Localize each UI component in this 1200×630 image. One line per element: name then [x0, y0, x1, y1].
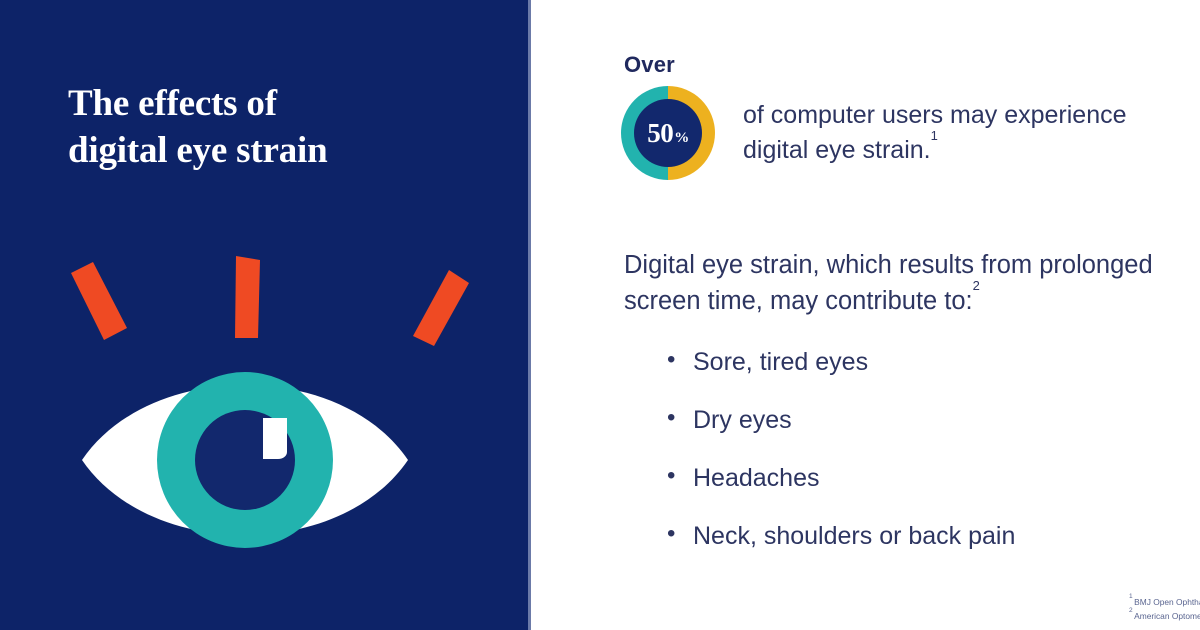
footnote-1: 1BMJ Open Ophthalmology, 2018, https://w… — [1129, 595, 1200, 609]
right-content-panel: Over 50% of computer users may experienc… — [531, 0, 1200, 630]
page-title-line-1: The effects of — [68, 80, 488, 127]
page-title-line-2: digital eye strain — [68, 127, 488, 174]
ray-right-icon — [413, 270, 469, 346]
ray-center-icon — [235, 256, 260, 338]
statistic-description: of computer users may experience digital… — [743, 98, 1143, 169]
donut-center: 50% — [634, 99, 702, 167]
list-item: Headaches — [667, 466, 1187, 491]
statistic-footnote-marker: 1 — [931, 128, 938, 143]
eye-illustration — [55, 248, 485, 558]
list-item: Neck, shoulders or back pain — [667, 524, 1187, 549]
lead-paragraph: Digital eye strain, which results from p… — [624, 248, 1164, 319]
donut-value: 50 — [647, 120, 673, 147]
donut-center-label: 50% — [647, 120, 689, 147]
footnote-1-text: BMJ Open Ophthalmology, 2018, https://ww… — [1134, 597, 1200, 607]
lead-paragraph-text: Digital eye strain, which results from p… — [624, 251, 1153, 315]
footnotes: 1BMJ Open Ophthalmology, 2018, https://w… — [1129, 595, 1200, 623]
infographic-slide: The effects of digital eye strain — [0, 0, 1200, 630]
footnote-2-marker: 2 — [1129, 607, 1133, 614]
symptom-label: Dry eyes — [693, 406, 792, 434]
ray-left-icon — [71, 262, 127, 340]
footnote-1-marker: 1 — [1129, 593, 1133, 600]
symptom-label: Headaches — [693, 464, 819, 492]
left-title-panel: The effects of digital eye strain — [0, 0, 531, 630]
symptom-list: Sore, tired eyes Dry eyes Headaches Neck… — [667, 350, 1187, 582]
statistic-block: Over 50% of computer users may experienc… — [621, 52, 1181, 180]
lead-footnote-marker: 2 — [973, 278, 980, 293]
footnote-2-text: American Optometric Association, https:/… — [1134, 611, 1200, 621]
list-item: Dry eyes — [667, 408, 1187, 433]
eye-highlight-icon — [263, 418, 287, 459]
donut-chart: 50% — [621, 86, 715, 180]
footnote-2: 2American Optometric Association, https:… — [1129, 609, 1200, 623]
donut-percent-symbol: % — [674, 131, 689, 146]
list-item: Sore, tired eyes — [667, 350, 1187, 375]
symptom-label: Neck, shoulders or back pain — [693, 522, 1015, 550]
over-label: Over — [624, 52, 1181, 78]
symptom-label: Sore, tired eyes — [693, 348, 868, 376]
page-title: The effects of digital eye strain — [68, 80, 488, 175]
